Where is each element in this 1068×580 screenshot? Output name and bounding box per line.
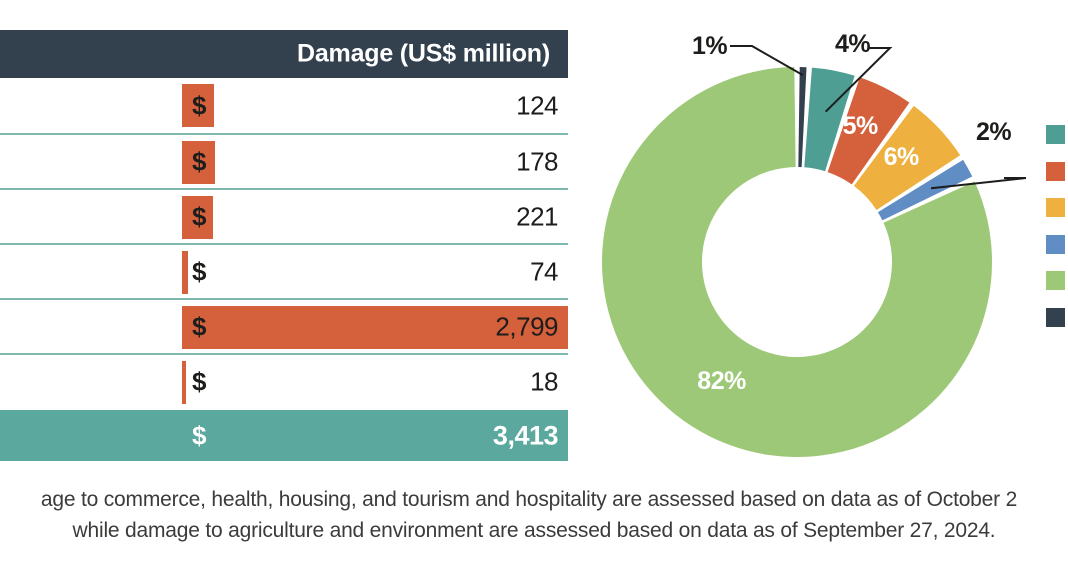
legend-swatch [1046, 308, 1065, 327]
donut-chart: 1%4%5%6%2%82% [580, 0, 1040, 470]
table-row-value: 74 [530, 256, 558, 287]
donut-slice-label: 1% [692, 32, 727, 61]
table-row-value: 124 [516, 90, 558, 121]
donut-slice-label: 5% [843, 112, 878, 141]
donut-slice [798, 67, 806, 167]
donut-slice-label: 82% [697, 367, 746, 396]
table-row: $178 [0, 133, 568, 188]
row-currency-symbol: $ [192, 366, 206, 397]
row-currency-symbol: $ [192, 256, 206, 287]
total-row-value: 3,413 [493, 420, 558, 451]
table-row: $124 [0, 78, 568, 133]
table-row: lospitality$18 [0, 353, 568, 408]
infographic-root: Damage (US$ million) $124$178$221$74$2,7… [0, 0, 1068, 580]
legend-swatch [1046, 198, 1065, 217]
table-header-row: Damage (US$ million) [0, 30, 568, 78]
table-row-bar [182, 361, 186, 404]
row-currency-symbol: $ [192, 311, 206, 342]
table-header-damage-label: Damage (US$ million) [297, 40, 550, 69]
legend-swatch [1046, 271, 1065, 290]
legend-swatch [1046, 162, 1065, 181]
table-row-bar [182, 251, 188, 294]
donut-slice-label: 2% [976, 118, 1011, 147]
table-row: $221 [0, 188, 568, 243]
row-currency-symbol: $ [192, 146, 206, 177]
table-row: $2,799 [0, 298, 568, 353]
table-row-value: 178 [516, 146, 558, 177]
donut-slice-label: 6% [884, 143, 919, 172]
legend-swatch [1046, 235, 1065, 254]
donut-chart-svg [580, 0, 1040, 470]
donut-slice-label: 4% [835, 30, 870, 59]
caption-line-2: while damage to agriculture and environm… [0, 515, 1068, 546]
table-row-value: 221 [516, 201, 558, 232]
table-row-value: 2,799 [495, 311, 558, 342]
table-row: $74 [0, 243, 568, 298]
table-total-row: $ 3,413 [0, 408, 568, 461]
total-currency-symbol: $ [192, 420, 206, 451]
row-currency-symbol: $ [192, 201, 206, 232]
legend-swatch [1046, 125, 1065, 144]
caption-line-1: age to commerce, health, housing, and to… [0, 484, 1068, 515]
table-row-value: 18 [530, 366, 558, 397]
figure-caption: age to commerce, health, housing, and to… [0, 484, 1068, 546]
row-currency-symbol: $ [192, 90, 206, 121]
damage-table: Damage (US$ million) $124$178$221$74$2,7… [0, 30, 568, 460]
